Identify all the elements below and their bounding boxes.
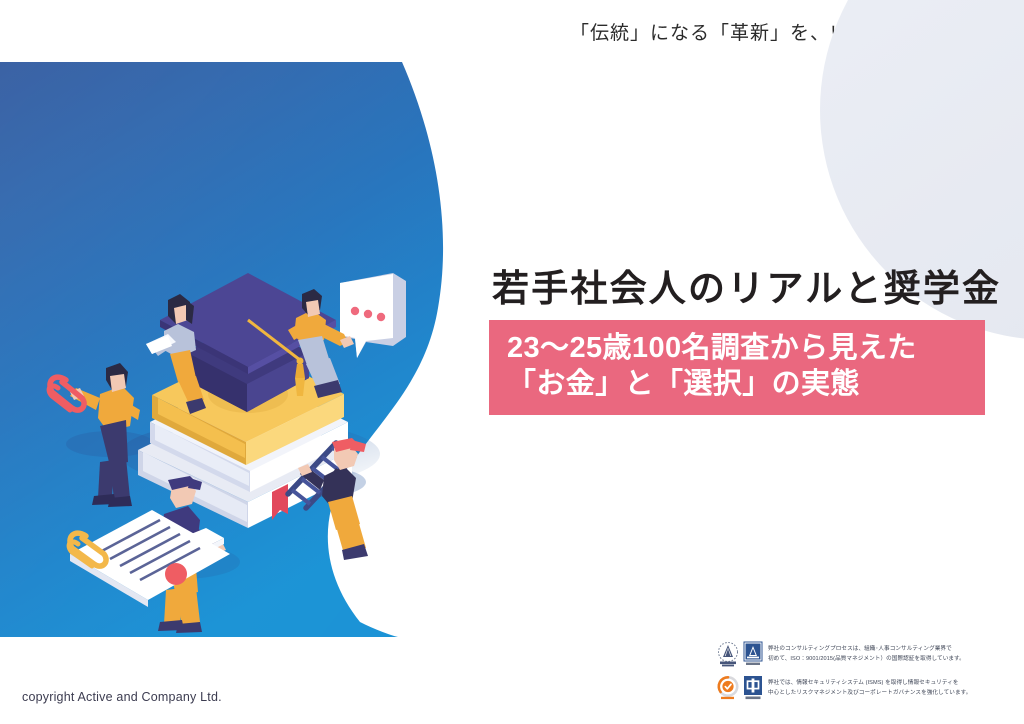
- title-block: 若手社会人のリアルと奨学金 23〜25歳100名調査から見えた 「お金」と「選択…: [489, 268, 989, 415]
- certification-text-iso: 弊社のコンサルティングプロセスは、組織･人事コンサルティング業界で 初めて、IS…: [768, 644, 965, 665]
- certification-text-isms-line2: 中心としたリスクマネジメント及びコーポレートガバナンスを強化しています。: [768, 688, 971, 698]
- certification-badges-isms: [716, 675, 768, 701]
- certification-row-iso9001: 弊社のコンサルティングプロセスは、組織･人事コンサルティング業界で 初めて、IS…: [716, 641, 1016, 667]
- blue-gradient-panel: [0, 62, 560, 637]
- subtitle-line-2: 「お金」と「選択」の実態: [507, 366, 971, 403]
- certification-row-isms: 弊社では、情報セキュリティシステム (ISMS) を取得し情報セキュリティを 中…: [716, 675, 1016, 701]
- page-title: 若手社会人のリアルと奨学金: [492, 268, 989, 311]
- isms-accreditation-badge-icon: [743, 675, 763, 701]
- certification-text-iso-line2: 初めて、ISO：9001/2015(品質マネジメント）の国際認証を取得しています…: [768, 654, 965, 664]
- certification-text-isms-line1: 弊社では、情報セキュリティシステム (ISMS) を取得し情報セキュリティを: [768, 678, 971, 688]
- certification-text-iso-line1: 弊社のコンサルティングプロセスは、組織･人事コンサルティング業界で: [768, 644, 965, 654]
- copyright-text: copyright Active and Company Ltd.: [22, 690, 222, 704]
- certification-area: 弊社のコンサルティングプロセスは、組織･人事コンサルティング業界で 初めて、IS…: [716, 641, 1016, 709]
- slide-canvas: 「伝統」になる「革新」を、いまから。: [0, 0, 1024, 724]
- subtitle-banner: 23〜25歳100名調査から見えた 「お金」と「選択」の実態: [489, 320, 985, 415]
- jab-accreditation-badge-icon: [743, 641, 763, 667]
- certification-badges-iso: [716, 641, 768, 667]
- sgs-check-circular-badge-icon: [716, 675, 740, 701]
- subtitle-line-1: 23〜25歳100名調査から見えた: [507, 330, 971, 367]
- certification-text-isms: 弊社では、情報セキュリティシステム (ISMS) を取得し情報セキュリティを 中…: [768, 678, 971, 699]
- iso-9001-circular-badge-icon: [716, 641, 740, 667]
